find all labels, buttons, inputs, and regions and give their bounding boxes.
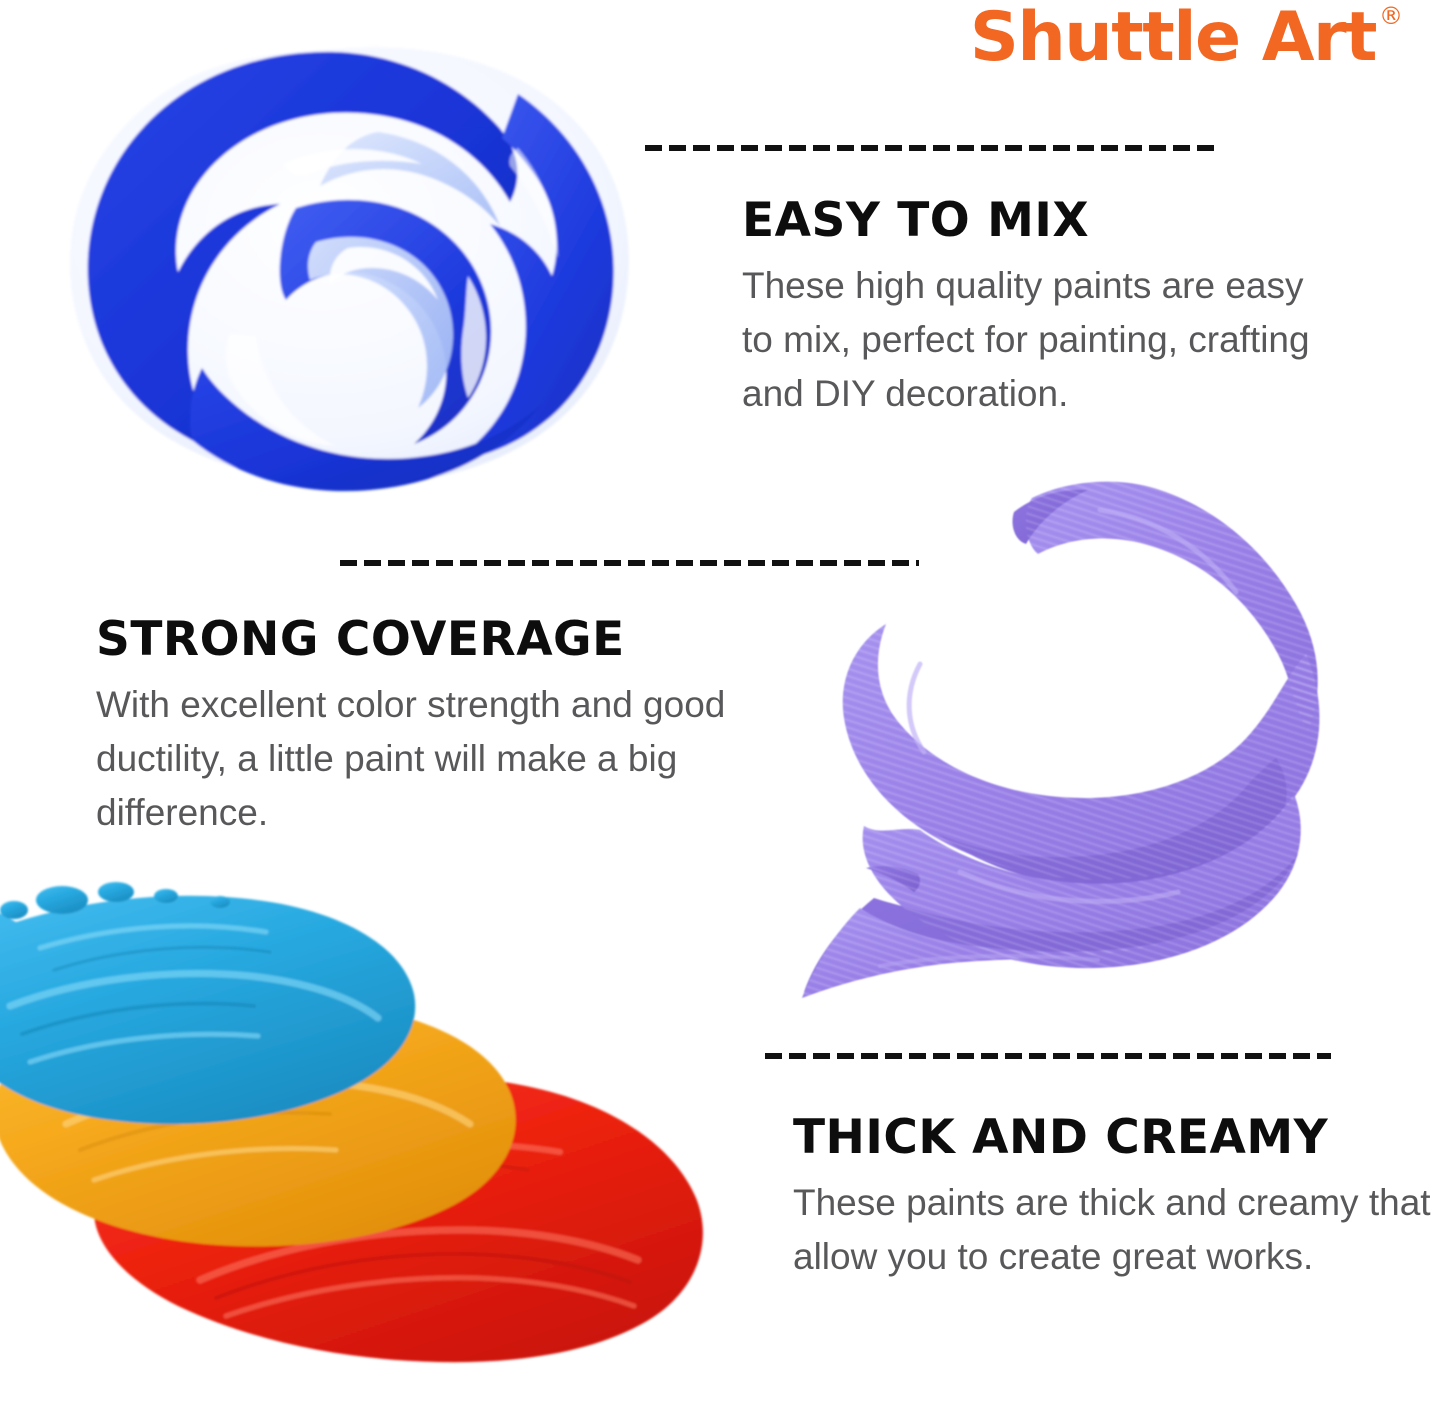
- feature-graphic-page: Shuttle Art ®: [0, 0, 1445, 1415]
- dashed-divider-easy-to-mix: [645, 145, 1219, 151]
- feature-body-strong-coverage: With excellent color strength and good d…: [96, 678, 776, 839]
- dashed-divider-strong-coverage: [340, 560, 919, 566]
- feature-heading-easy-to-mix: EASY TO MIX: [742, 196, 1342, 245]
- feature-body-easy-to-mix: These high quality paints are easy to mi…: [742, 259, 1342, 420]
- feature-heading-thick-and-creamy: THICK AND CREAMY: [793, 1113, 1445, 1162]
- dashed-divider-thick-and-creamy: [765, 1053, 1331, 1059]
- purple-brush-stroke-image: [800, 468, 1380, 1013]
- feature-body-thick-and-creamy: These paints are thick and creamy that a…: [793, 1176, 1445, 1283]
- feature-block-strong-coverage: STRONG COVERAGE With excellent color str…: [96, 615, 776, 839]
- feature-block-thick-and-creamy: THICK AND CREAMY These paints are thick …: [793, 1113, 1445, 1284]
- brand-logo: Shuttle Art ®: [970, 2, 1403, 73]
- tricolor-paint-smear-image: [0, 886, 710, 1371]
- feature-block-easy-to-mix: EASY TO MIX These high quality paints ar…: [742, 196, 1342, 420]
- brand-name: Shuttle Art: [970, 2, 1376, 73]
- blue-and-white-paint-swirl-image: [48, 36, 648, 496]
- registered-trademark-icon: ®: [1379, 4, 1403, 28]
- feature-heading-strong-coverage: STRONG COVERAGE: [96, 615, 776, 664]
